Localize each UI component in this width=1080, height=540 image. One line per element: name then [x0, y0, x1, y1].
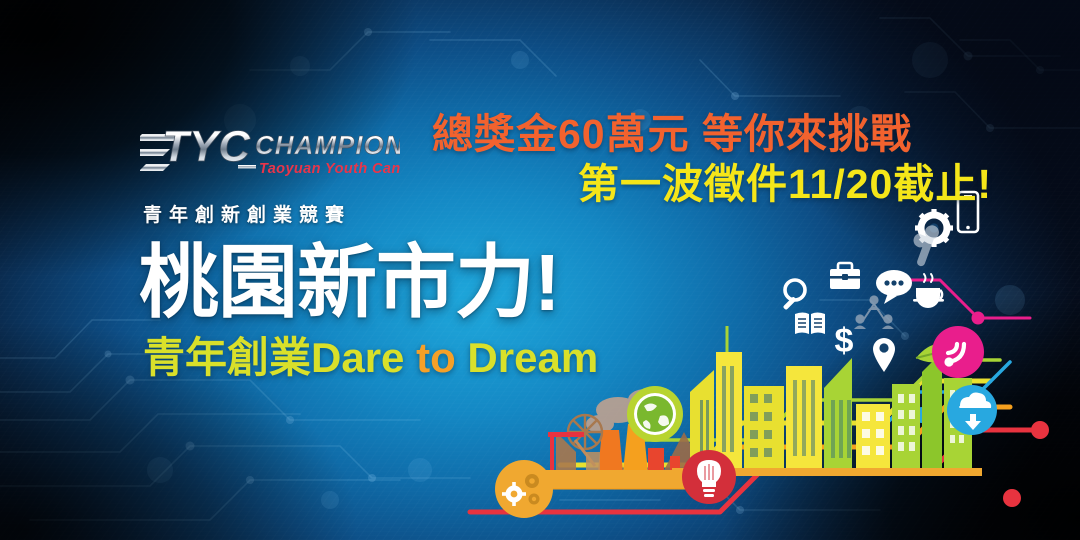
competition-subtitle: 青年創新創業競賽 — [143, 200, 351, 227]
speech-bubble-icon — [876, 270, 912, 304]
location-pin-icon — [873, 338, 895, 372]
dollar-icon: $ — [835, 322, 854, 360]
logo-tagline-text: Taoyuan Youth Can — [259, 161, 400, 177]
tagline-to: to — [416, 334, 456, 381]
tagline-row: 青年創業Dare to Dream — [143, 337, 598, 379]
tyc-champion-logo: TYC CHAMPION Taoyuan Youth Can — [140, 116, 400, 186]
logo-champion-text: CHAMPION — [255, 130, 400, 160]
book-icon — [795, 313, 825, 335]
logo-tyc-text: TYC — [162, 122, 251, 171]
tagline-dare: Dare — [311, 334, 404, 381]
page-title: 桃園新市力! — [139, 243, 560, 323]
tagline-chinese: 青年創業 — [143, 334, 311, 381]
deadline-text: 第一波徵件11/20截止! — [578, 150, 992, 210]
promotional-banner: $ — [0, 0, 1080, 540]
briefcase-icon — [830, 263, 860, 289]
svg-text:$: $ — [835, 322, 854, 360]
coffee-cup-icon — [913, 274, 944, 308]
magnifier-icon — [783, 280, 805, 310]
tagline-dream: Dream — [467, 334, 598, 381]
